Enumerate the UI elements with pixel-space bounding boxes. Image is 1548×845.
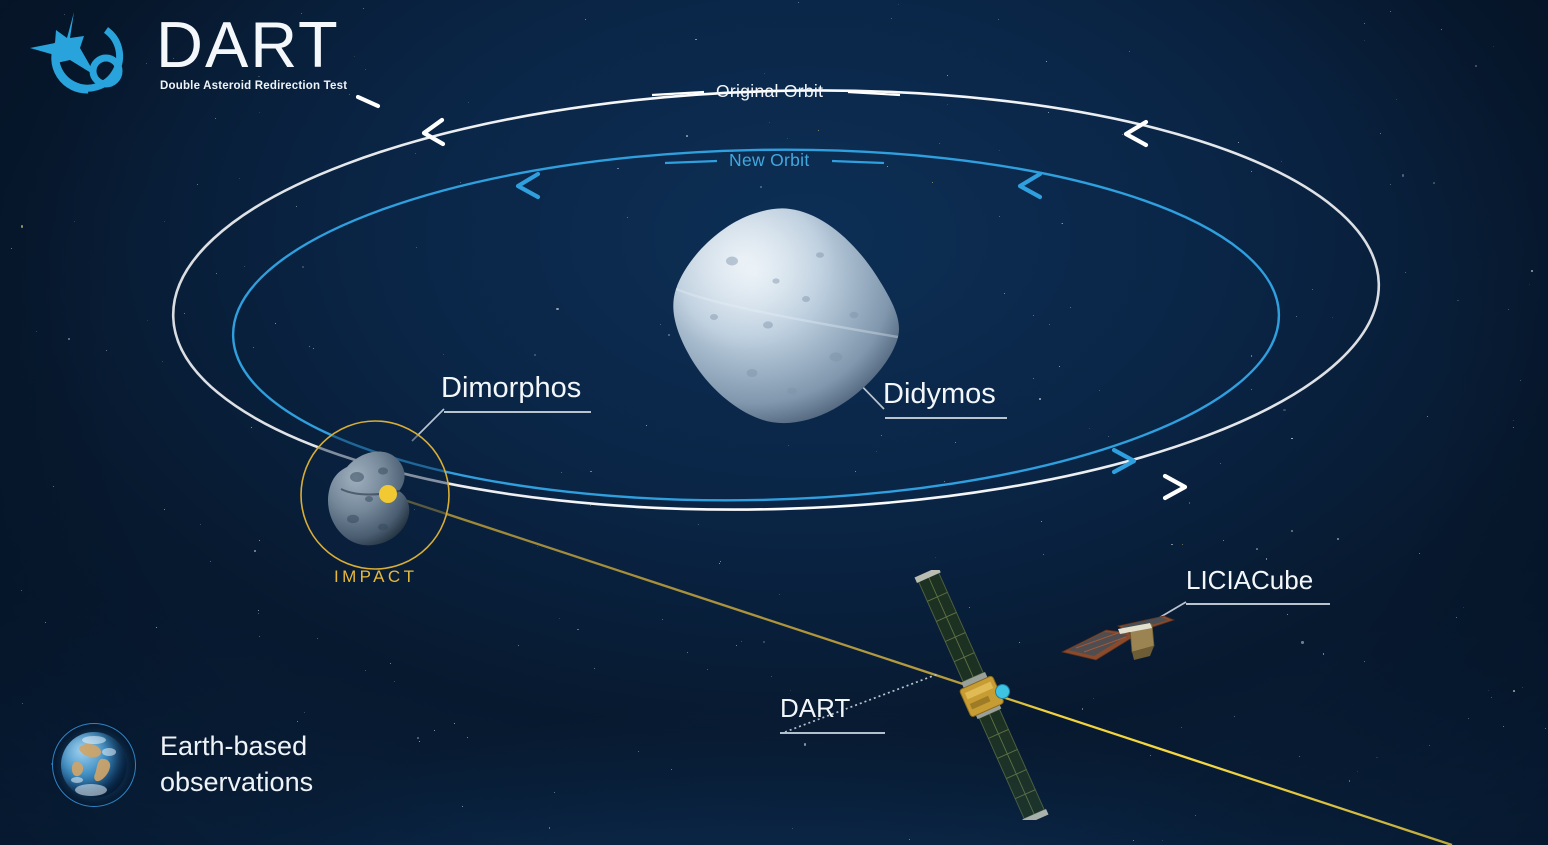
label-dart-text: DART <box>780 693 885 724</box>
dart-logo: DART Double Asteroid Redirection Test <box>22 8 347 100</box>
impact-point-icon <box>379 485 397 503</box>
label-impact: IMPACT <box>334 567 417 587</box>
logo-wordmark: DART <box>156 14 347 76</box>
label-dimorphos-text: Dimorphos <box>441 372 591 405</box>
label-dimorphos-rule <box>444 411 591 413</box>
dart-mission-infographic: DART Double Asteroid Redirection Test <box>0 0 1548 845</box>
label-original-orbit: Original Orbit <box>716 81 823 102</box>
label-dart: DART <box>780 693 885 734</box>
label-didymos-text: Didymos <box>883 378 1007 411</box>
earth-label-line2: observations <box>160 765 313 801</box>
label-didymos-rule <box>885 417 1007 419</box>
earth-label: Earth-based observations <box>160 729 313 801</box>
earth-sphere <box>61 732 127 798</box>
label-liciacube-text: LICIACube <box>1186 565 1330 596</box>
dart-solar-panel-upper <box>915 570 989 691</box>
label-liciacube: LICIACube <box>1186 565 1330 605</box>
label-dimorphos: Dimorphos <box>441 372 591 413</box>
earth-label-line1: Earth-based <box>160 729 313 765</box>
dart-spacecraft-logo-icon <box>22 8 142 100</box>
label-didymos: Didymos <box>883 378 1007 419</box>
label-dart-rule <box>780 732 885 734</box>
label-liciacube-rule <box>1186 603 1330 605</box>
earth-based-observations: Earth-based observations <box>52 723 313 807</box>
earth-continents <box>61 732 127 798</box>
dart-solar-panel-lower <box>974 700 1049 820</box>
label-new-orbit: New Orbit <box>729 150 810 171</box>
impact-highlight-circle-icon <box>295 415 455 575</box>
earth-globe-icon <box>52 723 136 807</box>
liciacube-cubesat-icon <box>1058 602 1178 682</box>
logo-tagline: Double Asteroid Redirection Test <box>160 80 347 92</box>
dart-spacecraft-icon <box>885 570 1075 820</box>
